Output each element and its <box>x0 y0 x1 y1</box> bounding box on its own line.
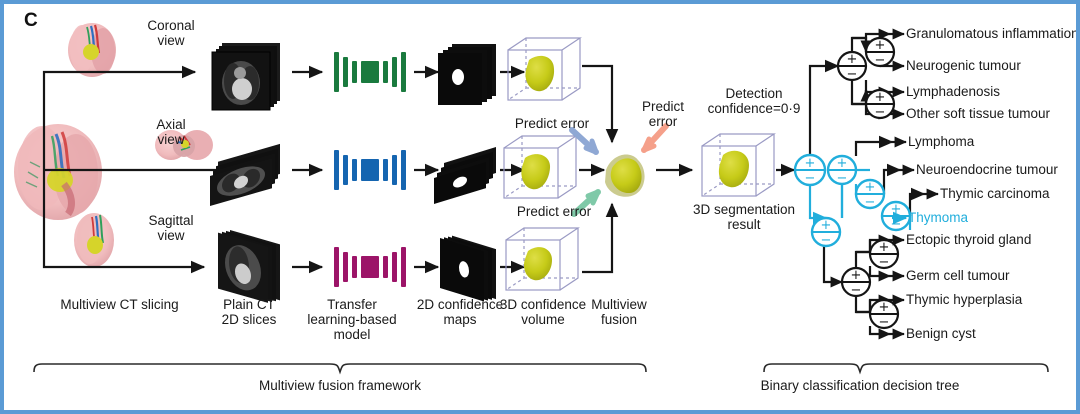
sagittal-render-icon <box>74 213 114 267</box>
view-label-sagittal: Sagittalview <box>126 213 216 243</box>
torso-render-3d <box>14 124 102 220</box>
tree-node: + − <box>870 240 898 270</box>
leaf-thymic-carcinoma: Thymic carcinoma <box>940 186 1050 201</box>
ct-slice-stack-sagittal <box>218 227 280 307</box>
leaf-neurogenic-tumour: Neurogenic tumour <box>906 58 1021 73</box>
view-label-coronal: Coronalview <box>126 18 216 48</box>
svg-text:+: + <box>875 38 886 53</box>
predict-error-bottom-label: Predict error <box>494 204 614 219</box>
caption-multiview-ct-slicing: Multiview CT slicing <box>32 297 207 312</box>
network-glyph-sagittal <box>334 247 406 287</box>
leaf-neuroendocrine-tumour: Neuroendocrine tumour <box>916 162 1058 177</box>
tree-node-highlighted: + − <box>795 155 825 186</box>
svg-text:+: + <box>891 202 902 217</box>
ct-slice-stack-coronal <box>212 43 280 110</box>
segmentation-result-volume <box>702 134 774 196</box>
svg-text:+: + <box>851 268 862 283</box>
confidence-volume-coronal <box>508 38 580 100</box>
brace-label-binary-classification-decision-tree: Binary classification decision tree <box>750 378 970 393</box>
svg-text:+: + <box>875 90 886 105</box>
tree-node-highlighted: + − <box>828 156 856 186</box>
tree-node-highlighted: + − <box>856 180 884 210</box>
tree-node: + − <box>870 300 898 330</box>
leaf-granulomatous-inflammation: Granulomatous inflammation <box>906 26 1079 41</box>
ct-slice-stack-axial <box>210 144 280 206</box>
confidence-volume-sagittal <box>506 228 578 290</box>
multiview-fusion-blob <box>605 155 645 197</box>
leaf-thymoma: Thymoma <box>908 210 968 225</box>
leaf-lymphadenosis: Lymphadenosis <box>906 84 1000 99</box>
svg-text:+: + <box>847 52 858 67</box>
svg-text:−: − <box>875 105 886 120</box>
predict-error-arrow-salmon <box>644 126 666 150</box>
svg-text:−: − <box>837 171 848 186</box>
network-glyph-coronal <box>334 52 406 92</box>
svg-text:−: − <box>851 283 862 298</box>
svg-text:−: − <box>875 53 886 68</box>
leaf-benign-cyst: Benign cyst <box>906 326 976 341</box>
tree-node: + − <box>842 268 870 298</box>
svg-text:+: + <box>879 240 890 255</box>
figure-panel-c: C <box>0 0 1080 414</box>
arrow-stack-to-net <box>292 72 322 267</box>
svg-text:−: − <box>879 315 890 330</box>
segmentation-result-label: 3D segmentationresult <box>664 202 824 232</box>
network-glyph-axial <box>334 150 406 190</box>
leaf-other-soft-tissue-tumour: Other soft tissue tumour <box>906 106 1050 121</box>
tree-node: + − <box>838 52 866 82</box>
svg-text:−: − <box>805 171 816 186</box>
caption-multiview-fusion: Multiviewfusion <box>576 297 662 327</box>
svg-text:−: − <box>847 67 858 82</box>
tree-node: + − <box>866 38 894 68</box>
brace-label-multiview-fusion-framework: Multiview fusion framework <box>240 378 440 393</box>
arrow-net-to-maps <box>414 72 438 267</box>
svg-text:−: − <box>821 233 832 248</box>
confidence-map-axial <box>434 147 496 204</box>
coronal-render-icon <box>68 23 116 77</box>
leaf-lymphoma: Lymphoma <box>908 134 974 149</box>
svg-text:+: + <box>805 156 816 171</box>
leaf-ectopic-thyroid-gland: Ectopic thyroid gland <box>906 232 1031 247</box>
svg-text:−: − <box>865 195 876 210</box>
view-label-axial: Axialview <box>126 117 216 147</box>
confidence-map-coronal <box>438 44 496 105</box>
svg-text:+: + <box>865 180 876 195</box>
caption-transfer-model: Transferlearning-basedmodel <box>292 297 412 342</box>
brace-binary-classification-decision-tree <box>764 364 1048 372</box>
svg-text:−: − <box>891 217 902 232</box>
confidence-map-sagittal <box>440 232 496 305</box>
confidence-volume-axial <box>504 136 576 198</box>
svg-text:−: − <box>879 255 890 270</box>
brace-multiview-fusion-framework <box>34 364 646 372</box>
predict-error-right-label: Predicterror <box>628 99 698 129</box>
svg-text:+: + <box>879 300 890 315</box>
detection-confidence-label: Detectionconfidence=0·9 <box>694 86 814 116</box>
predict-error-top-label: Predict error <box>492 116 612 131</box>
leaf-germ-cell-tumour: Germ cell tumour <box>906 268 1010 283</box>
tree-leaf-arrows <box>890 34 938 334</box>
leaf-thymic-hyperplasia: Thymic hyperplasia <box>906 292 1022 307</box>
svg-text:+: + <box>837 156 848 171</box>
tree-node: + − <box>866 90 894 120</box>
caption-plain-ct-2d-slices: Plain CT2D slices <box>204 297 294 327</box>
